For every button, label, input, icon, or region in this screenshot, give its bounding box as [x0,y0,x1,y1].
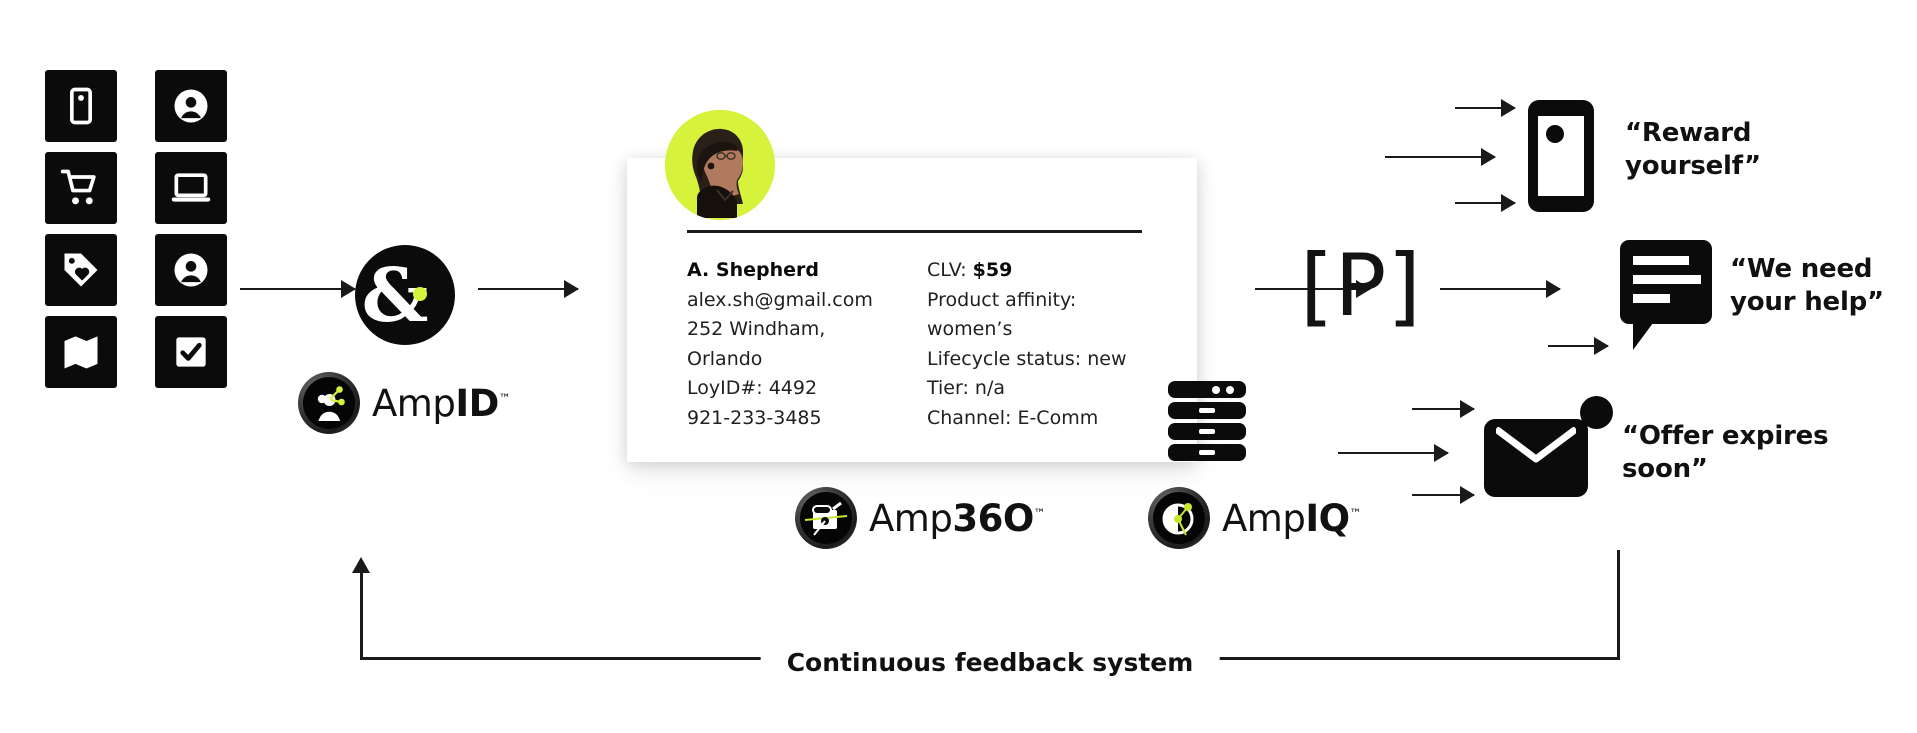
arrow-platform-to-channels [1440,288,1560,290]
profile-phone: 921-233-3485 [687,404,892,434]
mobile-phone-icon [1528,100,1594,212]
ampiq-logo: AmpIQ™ [1148,487,1361,549]
arrow-to-email-3 [1412,494,1474,496]
profile-name: A. Shepherd [687,256,892,286]
profile-address-line1: 252 Windham, [687,315,892,345]
email-message-text: “Offer expiressoon” [1622,420,1828,486]
person-profile-icon [155,70,227,142]
tag-heart-icon [45,234,117,306]
amp360-mark-icon [795,487,857,549]
profile-left-column: A. Shepherd alex.sh@gmail.com 252 Windha… [687,256,892,433]
ampersand-circle-icon: & [355,245,455,345]
feedback-loop-label: Continuous feedback system [761,648,1220,677]
profile-email: alex.sh@gmail.com [687,286,892,316]
profile-address-line2: Orlando [687,345,892,375]
ampid-wordmark: AmpID™ [372,382,510,425]
customer-avatar [665,110,775,220]
arrow-to-push-2 [1385,156,1495,158]
arrow-sources-to-ampid [240,288,355,290]
notification-badge-dot [1580,396,1613,429]
amp360-logo: Amp36O™ [795,487,1045,549]
envelope-icon [1484,419,1588,497]
server-stack-icon [1168,381,1246,461]
platform-bracket-p-logo: [P] [1300,243,1422,329]
profile-channel: Channel: E-Comm [927,404,1132,434]
arrow-to-push-3 [1455,202,1515,204]
profile-product-affinity-value: women’s [927,315,1132,345]
profile-clv: CLV: $59 [927,256,1132,286]
shopping-cart-icon [45,152,117,224]
arrow-to-email-1 [1412,408,1474,410]
chat-message-text: “We needyour help” [1730,253,1884,319]
map-icon [45,316,117,388]
profile-right-column: CLV: $59 Product affinity: women’s Lifec… [927,256,1132,433]
mobile-phone-icon [45,70,117,142]
envelope-flap [1496,427,1576,469]
checkbox-check-icon [155,316,227,388]
profile-loyalty-id: LoyID#: 4492 [687,374,892,404]
laptop-icon [155,152,227,224]
person-profile-icon [155,234,227,306]
ampid-logo: AmpID™ [298,372,510,434]
diagram-canvas: & AmpID™ A. S [0,0,1917,733]
profile-lifecycle-status: Lifecycle status: new [927,345,1132,375]
ampiq-wordmark: AmpIQ™ [1222,497,1361,540]
arrow-to-chat-1 [1548,345,1608,347]
profile-tier: Tier: n/a [927,374,1132,404]
arrow-ampid-to-profile [478,288,578,290]
push-message-text: “Rewardyourself” [1625,117,1761,183]
chat-bubble-icon [1620,240,1712,324]
arrow-to-email-2 [1338,452,1448,454]
card-divider [687,230,1142,233]
profile-product-affinity-label: Product affinity: [927,286,1132,316]
amp360-wordmark: Amp36O™ [869,497,1045,540]
continuous-feedback-loop: Continuous feedback system [360,550,1620,660]
ampid-mark-icon [298,372,360,434]
arrow-to-push-1 [1455,107,1515,109]
ampiq-mark-icon [1148,487,1210,549]
